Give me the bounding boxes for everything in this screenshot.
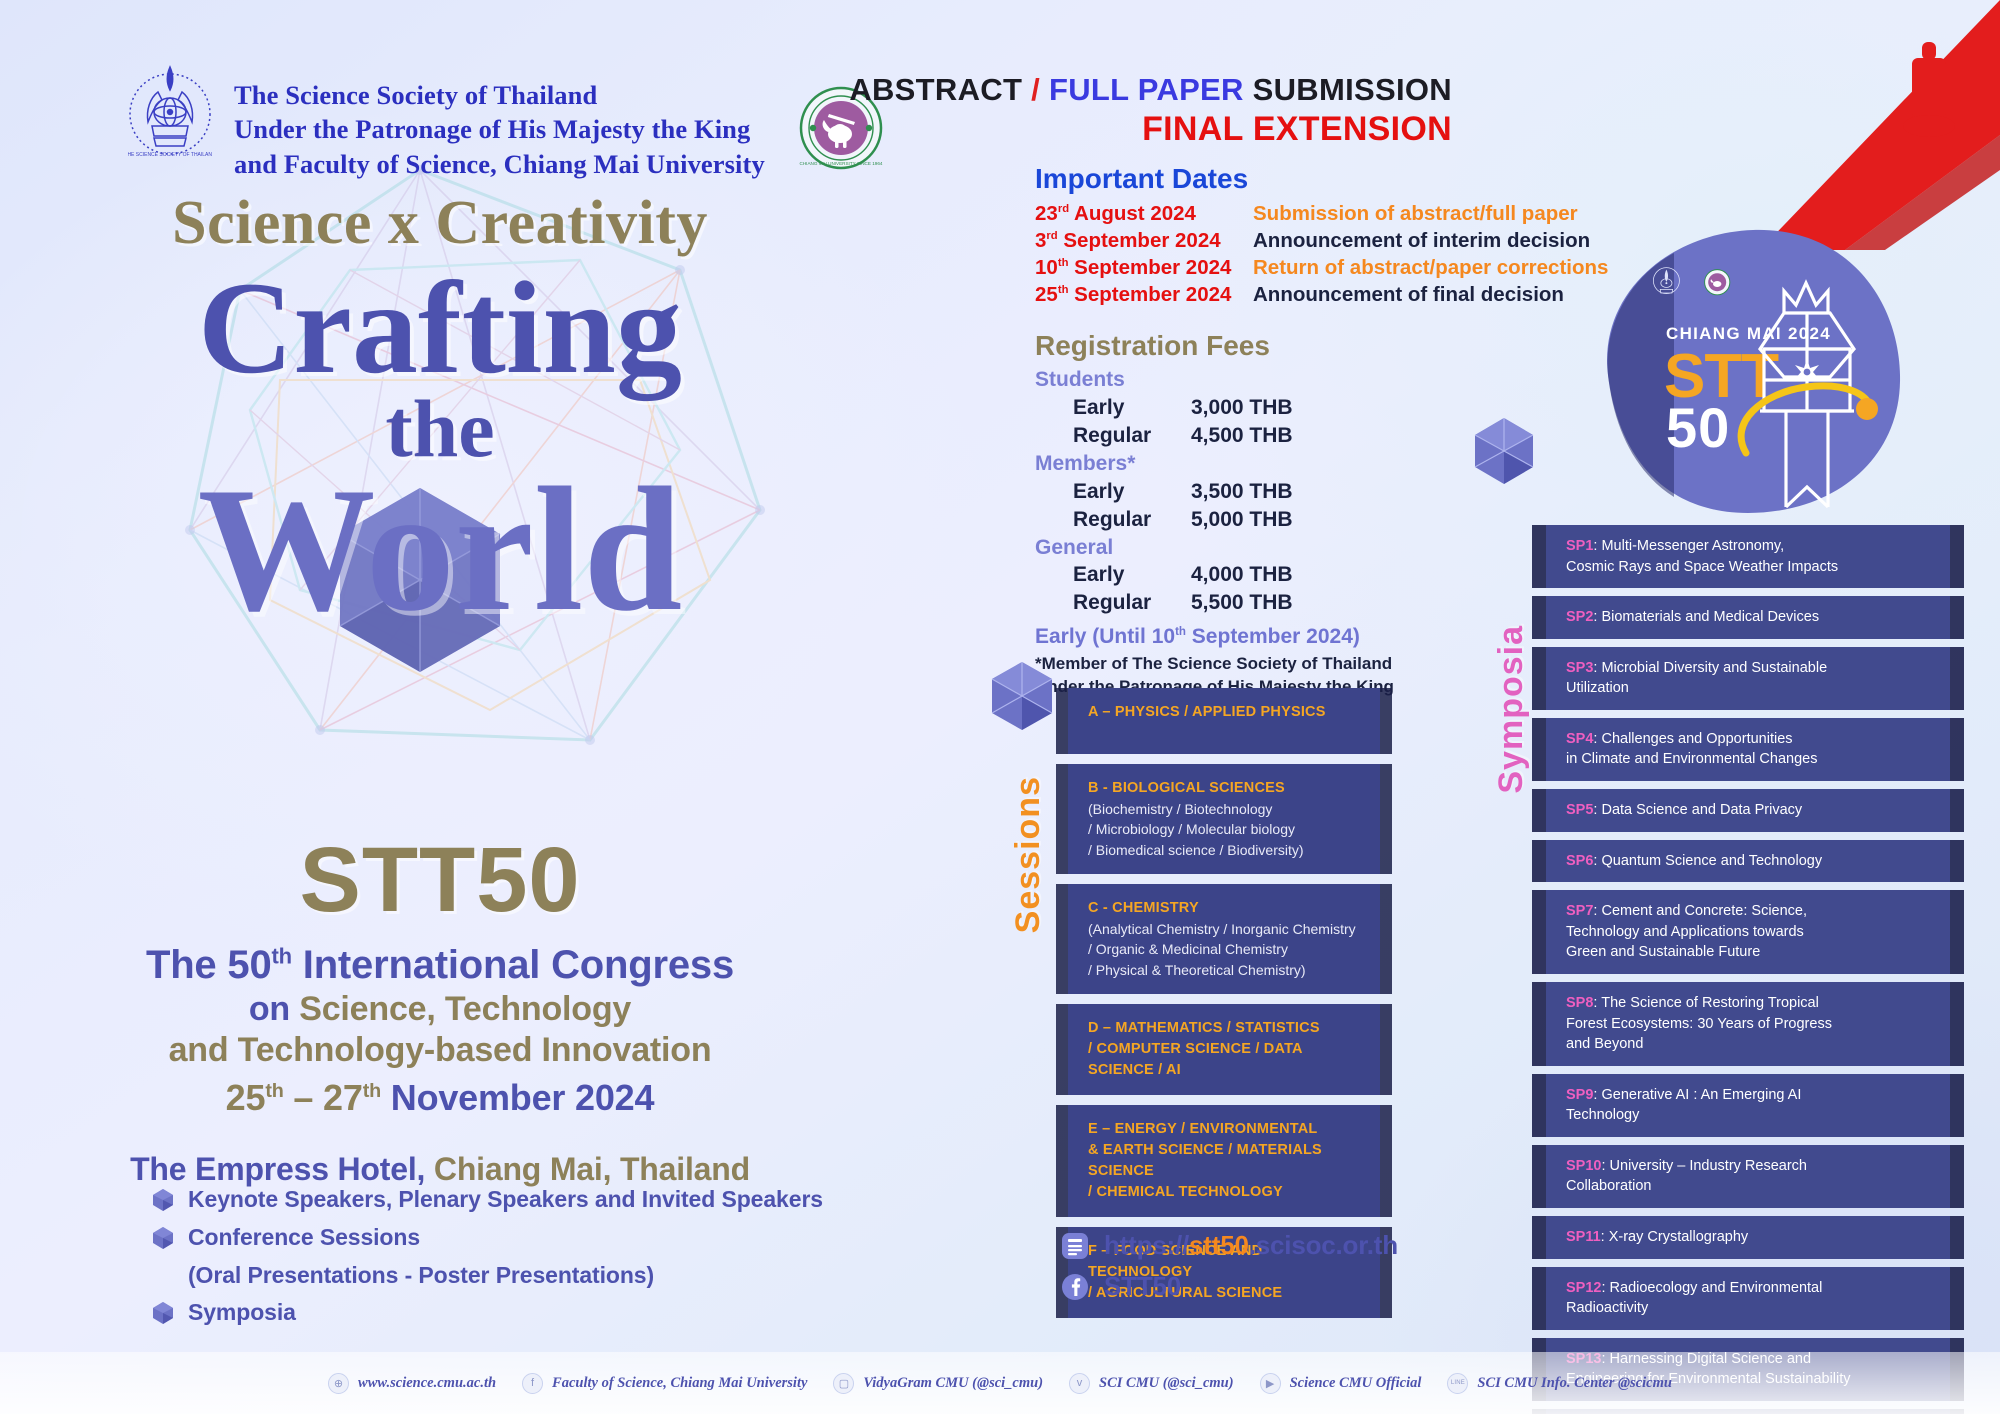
polyhedron-bullet-icon <box>152 1188 174 1212</box>
session-code: A – PHYSICS / APPLIED PHYSICS <box>1088 702 1360 723</box>
fee-key: Regular <box>1073 506 1191 534</box>
fee-group-label: Members* <box>1035 450 1394 478</box>
date-value: 25th September 2024 <box>1035 282 1253 309</box>
symposium-text: SP2: Biomaterials and Medical Devices <box>1566 607 1930 628</box>
symposium-code: SP4 <box>1566 731 1593 747</box>
highlights-list: Keynote Speakers, Plenary Speakers and I… <box>152 1185 872 1336</box>
fee-key: Early <box>1073 394 1191 422</box>
symposium-card[interactable]: SP8: The Science of Restoring Tropical F… <box>1546 982 1950 1066</box>
list-item: Symposia <box>152 1298 872 1327</box>
fee-key: Regular <box>1073 422 1191 450</box>
symposia-panel: Symposia SP1: Multi-Messenger Astronomy,… <box>1490 525 1950 1414</box>
session-card[interactable]: A – PHYSICS / APPLIED PHYSICS <box>1068 688 1380 754</box>
symposium-card[interactable]: SP10: University – Industry Research Col… <box>1546 1145 1950 1208</box>
facebook-handle[interactable]: STT50 <box>1104 1271 1181 1302</box>
symposium-text: SP1: Multi-Messenger Astronomy, Cosmic R… <box>1566 536 1930 577</box>
footer-item[interactable]: ▶ Science CMU Official <box>1260 1373 1422 1394</box>
line-icon: LINE <box>1447 1373 1468 1394</box>
fee-group-label: Students <box>1035 366 1394 394</box>
symposium-card[interactable]: SP12: Radioecology and Environmental Rad… <box>1546 1267 1950 1330</box>
symposium-text: SP11: X-ray Crystallography <box>1566 1227 1930 1248</box>
fee-group-label: General <box>1035 534 1394 562</box>
symposium-code: SP10 <box>1566 1158 1601 1174</box>
date-row: 25th September 2024 Announcement of fina… <box>1035 282 1608 309</box>
symposium-text: SP5: Data Science and Data Privacy <box>1566 800 1930 821</box>
footer-label[interactable]: www.science.cmu.ac.th <box>358 1375 496 1392</box>
footer-label[interactable]: VidyaGram CMU (@sci_cmu) <box>863 1375 1043 1392</box>
footer-label[interactable]: SCI CMU Info. Center @scicmu <box>1477 1375 1672 1392</box>
list-item-sublabel: (Oral Presentations - Poster Presentatio… <box>188 1262 872 1289</box>
symposium-code: SP7 <box>1566 903 1593 919</box>
svg-text:CHIANG MAI UNIVERSITY SINCE 19: CHIANG MAI UNIVERSITY SINCE 1964 <box>799 161 882 166</box>
symposium-code: SP3 <box>1566 660 1593 676</box>
fee-value: 4,000 THB <box>1191 561 1293 589</box>
footer-label[interactable]: SCI CMU (@sci_cmu) <box>1099 1375 1234 1392</box>
important-dates-rows: 23rd August 2024 Submission of abstract/… <box>1035 201 1608 308</box>
session-code: C - CHEMISTRY <box>1088 898 1360 919</box>
symposium-code: SP5 <box>1566 802 1593 818</box>
title-line-1: Crafting <box>0 265 880 390</box>
youtube-icon: ▶ <box>1260 1373 1281 1394</box>
organiser-names: The Science Society of Thailand Under th… <box>234 62 765 181</box>
symposia-label: Symposia <box>1492 625 1531 794</box>
fee-value: 3,000 THB <box>1191 394 1293 422</box>
symposia-polyhedron-icon <box>1466 413 1542 489</box>
symposium-code: SP8 <box>1566 995 1593 1011</box>
list-item: Conference Sessions <box>152 1223 872 1252</box>
fee-row: Early 4,000 THB <box>1035 561 1394 589</box>
session-subtopic: / Biomedical science / Biodiversity) <box>1088 840 1360 860</box>
symposium-code: SP12 <box>1566 1280 1601 1296</box>
list-item-label: Keynote Speakers, Plenary Speakers and I… <box>188 1185 823 1214</box>
symposium-card[interactable]: SP2: Biomaterials and Medical Devices <box>1546 596 1950 639</box>
fee-row: Regular 5,500 THB <box>1035 589 1394 617</box>
symposium-card[interactable]: SP11: X-ray Crystallography <box>1546 1216 1950 1259</box>
session-subtopic: / Organic & Medicinal Chemistry <box>1088 939 1360 959</box>
red-ribbon-decoration <box>1670 0 2000 250</box>
poster-title-block: Science x Creativity Crafting the World <box>0 188 880 632</box>
symposium-card[interactable]: SP6: Quantum Science and Technology <box>1546 840 1950 883</box>
symposium-card[interactable]: SP4: Challenges and Opportunities in Cli… <box>1546 718 1950 781</box>
org-line-1: The Science Society of Thailand <box>234 78 765 112</box>
fee-value: 3,500 THB <box>1191 478 1293 506</box>
important-dates-heading: Important Dates <box>1035 163 1608 195</box>
website-url[interactable]: https://stt50.scisoc.or.th <box>1104 1230 1398 1261</box>
badge-50: 50 <box>1666 396 1730 459</box>
session-card[interactable]: D – MATHEMATICS / STATISTICS / COMPUTER … <box>1068 1004 1380 1095</box>
submission-banner: ABSTRACT / FULL PAPER SUBMISSION FINAL E… <box>849 72 1452 149</box>
session-card[interactable]: E – ENERGY / ENVIRONMENTAL & EARTH SCIEN… <box>1068 1105 1380 1217</box>
science-society-thailand-logo-icon: THE SCIENCE SOCIETY OF THAILAND <box>128 62 212 158</box>
session-subtopic: / Physical & Theoretical Chemistry) <box>1088 960 1360 980</box>
congress-line-1: The 50th International Congress <box>0 942 880 989</box>
globe-icon: ⊕ <box>328 1373 349 1394</box>
session-code: D – MATHEMATICS / STATISTICS / COMPUTER … <box>1088 1018 1360 1081</box>
session-card[interactable]: B - BIOLOGICAL SCIENCES (Biochemistry / … <box>1068 764 1380 874</box>
contact-links: https://stt50.scisoc.or.th STT50 <box>1060 1230 1398 1312</box>
congress-dates: 25th – 27th November 2024 <box>0 1071 880 1125</box>
symposium-text: SP10: University – Industry Research Col… <box>1566 1156 1930 1197</box>
symposia-cards[interactable]: SP1: Multi-Messenger Astronomy, Cosmic R… <box>1546 525 1950 1414</box>
symposium-text: SP7: Cement and Concrete: Science, Techn… <box>1566 901 1930 963</box>
list-item-label: Symposia <box>188 1298 296 1327</box>
polyhedron-bullet-icon <box>152 1226 174 1250</box>
footer-item[interactable]: ⊕ www.science.cmu.ac.th <box>328 1373 496 1394</box>
footer-item[interactable]: LINE SCI CMU Info. Center @scicmu <box>1447 1373 1672 1394</box>
facebook-icon <box>1060 1272 1090 1302</box>
congress-details: The 50th International Congress on Scien… <box>0 942 880 1188</box>
fee-row: Early 3,000 THB <box>1035 394 1394 422</box>
footnote-line-1: *Member of The Science Society of Thaila… <box>1035 653 1394 675</box>
instagram-icon: ▢ <box>833 1373 854 1394</box>
date-row: 23rd August 2024 Submission of abstract/… <box>1035 201 1608 228</box>
symposium-card[interactable]: SP5: Data Science and Data Privacy <box>1546 789 1950 832</box>
fee-row: Regular 5,000 THB <box>1035 506 1394 534</box>
symposium-code: SP6 <box>1566 853 1593 869</box>
website-icon <box>1060 1231 1090 1261</box>
date-description: Announcement of final decision <box>1253 282 1564 309</box>
footer-item[interactable]: ▢ VidyaGram CMU (@sci_cmu) <box>833 1373 1043 1394</box>
sessions-label: Sessions <box>1009 776 1048 933</box>
symposium-card[interactable]: SP3: Microbial Diversity and Sustainable… <box>1546 647 1950 710</box>
early-bird-note: Early (Until 10th September 2024) <box>1035 625 1394 649</box>
organiser-header: THE SCIENCE SOCIETY OF THAILAND The Scie… <box>128 62 883 181</box>
session-code: E – ENERGY / ENVIRONMENTAL & EARTH SCIEN… <box>1088 1119 1360 1203</box>
congress-line-3: and Technology-based Innovation <box>0 1030 880 1071</box>
date-description: Announcement of interim decision <box>1253 228 1590 255</box>
symposium-text: SP4: Challenges and Opportunities in Cli… <box>1566 729 1930 770</box>
facebook-icon: f <box>522 1373 543 1394</box>
fee-row: Regular 4,500 THB <box>1035 422 1394 450</box>
fee-value: 5,000 THB <box>1191 506 1293 534</box>
symposium-text: SP9: Generative AI : An Emerging AI Tech… <box>1566 1085 1930 1126</box>
poster-canvas: THE SCIENCE SOCIETY OF THAILAND The Scie… <box>0 0 2000 1414</box>
list-item-label: Conference Sessions <box>188 1223 420 1252</box>
symposium-code: SP9 <box>1566 1087 1593 1103</box>
footer-label[interactable]: Faculty of Science, Chiang Mai Universit… <box>552 1375 807 1392</box>
session-subtopic: / Microbiology / Molecular biology <box>1088 819 1360 839</box>
org-line-3: and Faculty of Science, Chiang Mai Unive… <box>234 147 765 181</box>
registration-fees-section: Registration Fees Students Early 3,000 T… <box>1035 330 1394 698</box>
fee-key: Regular <box>1073 589 1191 617</box>
fee-row: Early 3,500 THB <box>1035 478 1394 506</box>
date-value: 10th September 2024 <box>1035 255 1253 282</box>
symposium-code: SP11 <box>1566 1229 1601 1245</box>
fee-value: 5,500 THB <box>1191 589 1293 617</box>
footer-item[interactable]: ᴠ SCI CMU (@sci_cmu) <box>1069 1373 1234 1394</box>
fee-key: Early <box>1073 478 1191 506</box>
fee-value: 4,500 THB <box>1191 422 1293 450</box>
title-line-3: World <box>0 468 880 632</box>
event-acronym: STT50 <box>0 828 880 933</box>
polyhedron-bullet-icon <box>152 1301 174 1325</box>
symposium-text: SP6: Quantum Science and Technology <box>1566 851 1930 872</box>
twitter-icon: ᴠ <box>1069 1373 1090 1394</box>
symposium-text: SP3: Microbial Diversity and Sustainable… <box>1566 658 1930 699</box>
footer-label[interactable]: Science CMU Official <box>1290 1375 1422 1392</box>
important-dates-section: Important Dates 23rd August 2024 Submiss… <box>1035 163 1608 308</box>
date-value: 23rd August 2024 <box>1035 201 1253 228</box>
session-subtopic: (Biochemistry / Biotechnology <box>1088 799 1360 819</box>
stt50-event-badge: CHIANG MAI 2024 STT 50 <box>1578 225 1908 515</box>
symposium-code: SP2 <box>1566 609 1593 625</box>
svg-text:THE SCIENCE SOCIETY OF THAILAN: THE SCIENCE SOCIETY OF THAILAND <box>128 152 212 158</box>
website-link-row[interactable]: https://stt50.scisoc.or.th <box>1060 1230 1398 1261</box>
registration-heading: Registration Fees <box>1035 330 1394 362</box>
footer-item[interactable]: f Faculty of Science, Chiang Mai Univers… <box>522 1373 807 1394</box>
date-description: Submission of abstract/full paper <box>1253 201 1578 228</box>
submission-line-2: FINAL EXTENSION <box>849 110 1452 149</box>
tagline: Science x Creativity <box>0 188 880 259</box>
date-row: 3rd September 2024 Announcement of inter… <box>1035 228 1608 255</box>
footer-bar: ⊕ www.science.cmu.ac.th f Faculty of Sci… <box>0 1352 2000 1414</box>
session-code: B - BIOLOGICAL SCIENCES <box>1088 778 1360 799</box>
session-card[interactable]: C - CHEMISTRY (Analytical Chemistry / In… <box>1068 884 1380 994</box>
date-value: 3rd September 2024 <box>1035 228 1253 255</box>
date-row: 10th September 2024 Return of abstract/p… <box>1035 255 1608 282</box>
session-subtopic: (Analytical Chemistry / Inorganic Chemis… <box>1088 919 1360 939</box>
sessions-polyhedron-icon <box>982 656 1062 736</box>
symposium-card[interactable]: SP7: Cement and Concrete: Science, Techn… <box>1546 890 1950 974</box>
symposium-text: SP8: The Science of Restoring Tropical F… <box>1566 993 1930 1055</box>
submission-line-1: ABSTRACT / FULL PAPER SUBMISSION <box>849 72 1452 108</box>
list-item: Keynote Speakers, Plenary Speakers and I… <box>152 1185 872 1214</box>
symposium-text: SP12: Radioecology and Environmental Rad… <box>1566 1278 1930 1319</box>
fee-key: Early <box>1073 561 1191 589</box>
venue: The Empress Hotel, Chiang Mai, Thailand <box>0 1151 880 1188</box>
facebook-link-row[interactable]: STT50 <box>1060 1271 1398 1302</box>
symposium-card[interactable]: SP1: Multi-Messenger Astronomy, Cosmic R… <box>1546 525 1950 588</box>
date-description: Return of abstract/paper corrections <box>1253 255 1608 282</box>
org-line-2: Under the Patronage of His Majesty the K… <box>234 112 765 146</box>
sessions-cards[interactable]: A – PHYSICS / APPLIED PHYSICS B - BIOLOG… <box>1068 688 1380 1318</box>
symposium-code: SP1 <box>1566 538 1593 554</box>
symposium-card[interactable]: SP9: Generative AI : An Emerging AI Tech… <box>1546 1074 1950 1137</box>
congress-line-2: on Science, Technology <box>0 989 880 1030</box>
